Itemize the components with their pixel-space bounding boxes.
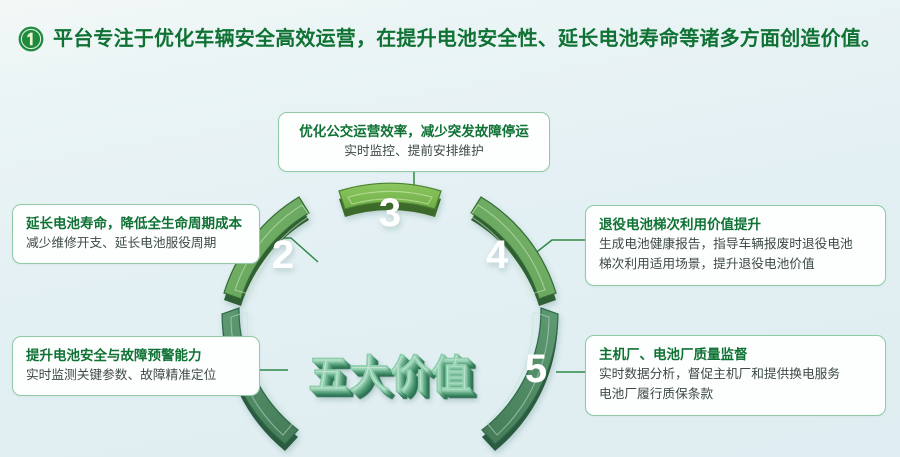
callout-line-2-0: 减少维修开支、延长电池服役周期	[26, 234, 246, 253]
callout-box-3[interactable]: 优化公交运营效率，减少突发故障停运 实时监控、提前安排维护	[278, 112, 550, 172]
callout-line-5-0: 实时数据分析，督促主机厂和提供换电服务	[599, 365, 872, 384]
callout-title-2: 延长电池寿命，降低全生命周期成本	[26, 214, 246, 233]
callout-title-4: 退役电池梯次利用价值提升	[599, 215, 872, 234]
arch-segment-5[interactable]: 5	[482, 308, 558, 451]
callout-box-4[interactable]: 退役电池梯次利用价值提升 生成电池健康报告，指导车辆报废时退役电池 梯次利用适用…	[585, 205, 886, 286]
callout-box-5[interactable]: 主机厂、电池厂质量监督 实时数据分析，督促主机厂和提供换电服务 电池厂履行质保条…	[585, 335, 886, 416]
infographic-canvas: 平台专注于优化车辆安全高效运营，在提升电池安全性、延长电池寿命等诸多方面创造价值…	[0, 0, 900, 457]
callout-title-1: 提升电池安全与故障预警能力	[26, 346, 246, 365]
callout-line-1-0: 实时监测关键参数、故障精准定位	[26, 366, 246, 385]
callout-line-3-0: 实时监控、提前安排维护	[292, 142, 536, 161]
segment-number-4: 4	[486, 233, 509, 277]
arch-segment-4[interactable]: 4	[470, 197, 556, 306]
callout-box-1[interactable]: 提升电池安全与故障预警能力 实时监测关键参数、故障精准定位	[12, 336, 260, 396]
callout-line-4-1: 梯次利用适用场景，提升退役电池价值	[599, 255, 872, 274]
callout-line-5-1: 电池厂履行质保条款	[599, 385, 872, 404]
center-wordmark: 五大价值	[308, 342, 472, 400]
segment-number-3: 3	[379, 191, 401, 235]
callout-title-5: 主机厂、电池厂质量监督	[599, 345, 872, 364]
segment-number-2: 2	[272, 233, 294, 277]
callout-title-3: 优化公交运营效率，减少突发故障停运	[292, 122, 536, 141]
callout-line-4-0: 生成电池健康报告，指导车辆报废时退役电池	[599, 235, 872, 254]
callout-box-2[interactable]: 延长电池寿命，降低全生命周期成本 减少维修开支、延长电池服役周期	[12, 204, 260, 264]
segment-number-5: 5	[525, 347, 547, 391]
arch-segment-3[interactable]: 3	[339, 183, 441, 235]
